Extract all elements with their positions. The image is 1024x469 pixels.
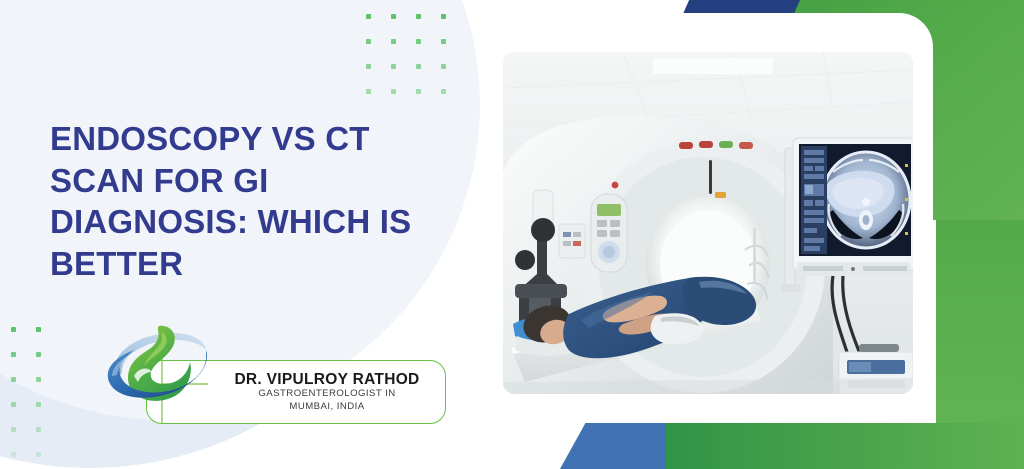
article-banner: Endoscopy Vs CT Scan For GI Diagnosis: W…	[0, 0, 1024, 469]
decorative-dot	[11, 327, 16, 332]
logo-specialty-line-2: MUMBAI, INDIA	[289, 401, 364, 414]
decorative-dot	[11, 352, 16, 357]
decorative-dot	[391, 14, 396, 19]
decorative-dot	[391, 39, 396, 44]
decorative-dot	[11, 402, 16, 407]
logo-specialty-line-1: GASTROENTEROLOGIST IN	[258, 388, 395, 401]
dot-grid-left	[11, 327, 51, 467]
decorative-dot	[36, 377, 41, 382]
decorative-dot	[36, 452, 41, 457]
decorative-dot	[36, 352, 41, 357]
decorative-dot	[366, 14, 371, 19]
decorative-dot	[441, 89, 446, 94]
decorative-dot	[366, 89, 371, 94]
logo-doctor-name: DR. VIPULROY RATHOD	[234, 371, 419, 388]
page-title: Endoscopy Vs CT Scan For GI Diagnosis: W…	[50, 118, 470, 284]
decorative-dot	[366, 64, 371, 69]
ct-scan-illustration	[503, 52, 913, 394]
decorative-dot	[416, 14, 421, 19]
decorative-dot	[11, 427, 16, 432]
decorative-dot	[36, 427, 41, 432]
brand-logo[interactable]: DR. VIPULROY RATHOD GASTROENTEROLOGIST I…	[104, 312, 452, 432]
decorative-dot	[11, 377, 16, 382]
decorative-dot	[11, 452, 16, 457]
decorative-dot	[441, 39, 446, 44]
decorative-dot	[36, 402, 41, 407]
decorative-dot	[416, 89, 421, 94]
decorative-dot	[441, 14, 446, 19]
decorative-dot	[391, 89, 396, 94]
decorative-dot	[366, 39, 371, 44]
stomach-swoosh-logo-icon	[104, 312, 212, 428]
dot-grid-top	[366, 14, 462, 86]
decorative-dot	[416, 64, 421, 69]
ct-scan-photo	[503, 52, 913, 394]
decorative-dot	[391, 64, 396, 69]
decorative-dot	[36, 327, 41, 332]
decorative-dot	[441, 64, 446, 69]
decorative-dot	[416, 39, 421, 44]
